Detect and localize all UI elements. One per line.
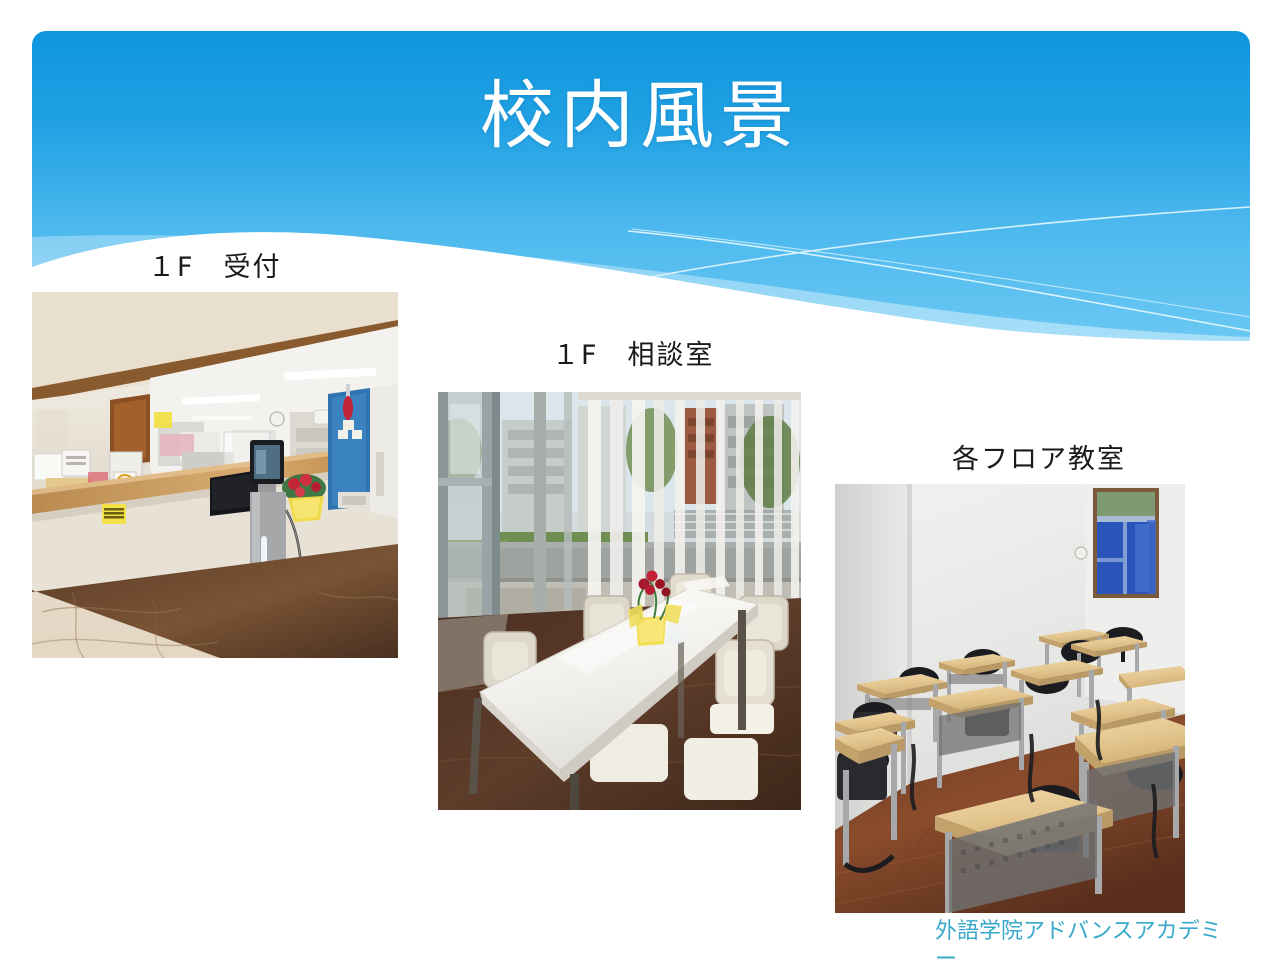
classroom-photo-art	[835, 484, 1185, 913]
reception-photo-art	[32, 292, 398, 677]
reception-photo	[32, 292, 398, 677]
page-title: 校内風景	[0, 76, 1280, 157]
footer-organization: 外語学院アドバンスアカデミー	[935, 918, 1235, 960]
consultation-room-photo	[438, 392, 801, 810]
consultation-room-photo-art	[438, 392, 801, 810]
caption-classroom: 各フロア教室	[952, 437, 1126, 476]
caption-reception: １F 受付	[148, 245, 282, 284]
classroom-photo	[835, 484, 1185, 913]
caption-consultation-room: １F 相談室	[552, 333, 715, 372]
slide-canvas: 校内風景 １F 受付	[0, 0, 1280, 960]
